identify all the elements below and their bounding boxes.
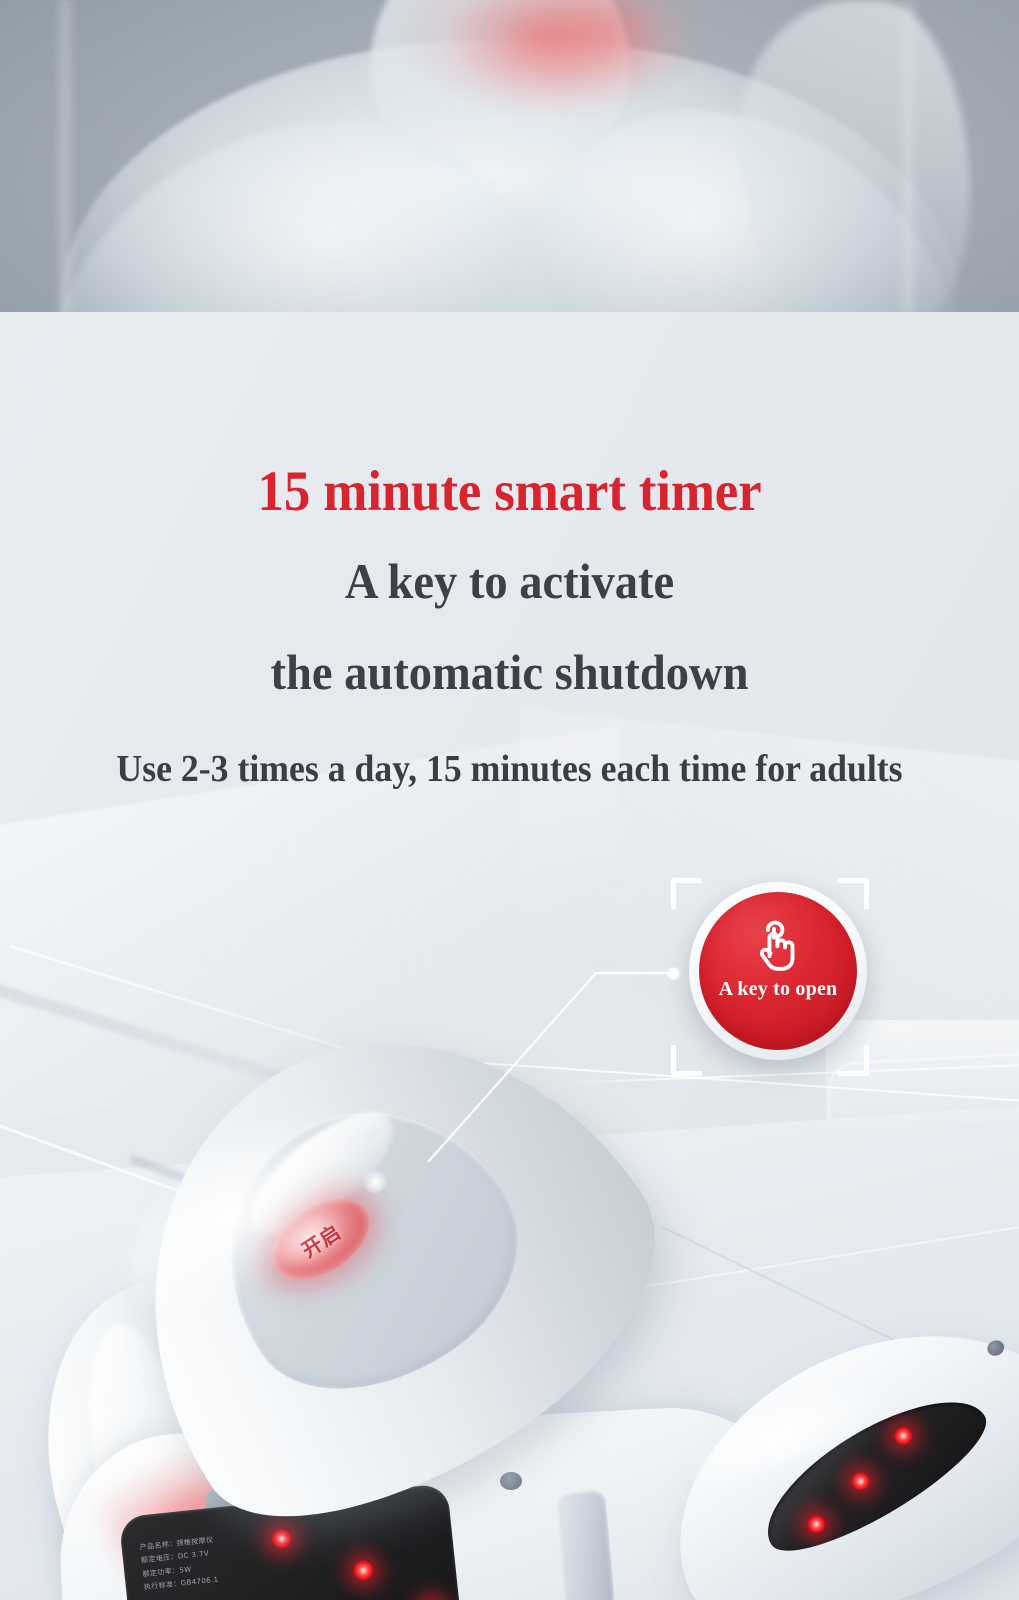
product-marketing-page: 15 minute smart timer A key to activate … (0, 0, 1019, 1600)
device-led-2 (848, 1469, 873, 1494)
tap-hand-icon (747, 914, 809, 976)
focus-bracket-bottom-left-icon (671, 1045, 702, 1076)
device-photo: 产品名称：颈椎按摩仪 额定电压：DC 3.7V 额定功率：5W 执行标准：GB4… (0, 1020, 1019, 1600)
callout-leader-dot (668, 968, 679, 979)
focus-bracket-top-right-icon (838, 878, 869, 909)
subtitle-line-1: A key to activate (36, 551, 984, 612)
device-body-port (500, 1472, 522, 1490)
callout-badge[interactable]: A key to open (660, 868, 880, 1086)
usage-note: Use 2-3 times a day, 15 minutes each tim… (31, 747, 989, 793)
focus-bracket-top-left-icon (671, 878, 702, 909)
device-led-1 (804, 1511, 829, 1536)
subtitle-line-2: the automatic shutdown (36, 642, 984, 703)
hero-medical-image (0, 0, 1019, 312)
badge-label: A key to open (719, 978, 838, 1001)
hero-vignette (0, 0, 1019, 312)
page-title: 15 minute smart timer (36, 462, 984, 521)
spec-led-2 (352, 1559, 374, 1581)
device-hinge (555, 1488, 615, 1600)
focus-bracket-bottom-right-icon (838, 1045, 869, 1076)
badge-red-circle[interactable]: A key to open (699, 892, 857, 1050)
headline-block: 15 minute smart timer A key to activate … (0, 462, 1019, 793)
